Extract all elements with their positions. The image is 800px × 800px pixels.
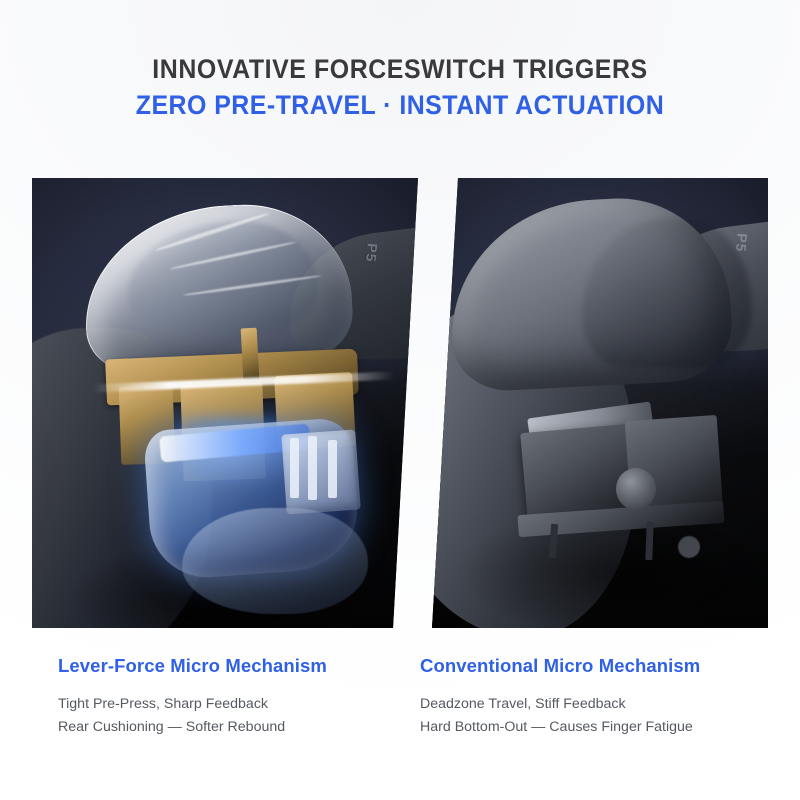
page-title: INNOVATIVE FORCESWITCH TRIGGERS [24, 55, 776, 85]
caption-line: Hard Bottom-Out — Causes Finger Fatigue [420, 716, 800, 739]
switch-pivot-knob [616, 468, 656, 510]
caption-line: Tight Pre-Press, Sharp Feedback [58, 693, 410, 716]
caption-line: Deadzone Travel, Stiff Feedback [420, 693, 800, 716]
brass-stem [241, 328, 260, 381]
page-subtitle: ZERO PRE-TRAVEL · INSTANT ACTUATION [24, 91, 776, 121]
switch-leg-icon [645, 522, 653, 560]
caption-line: Rear Cushioning — Softer Rebound [58, 716, 410, 739]
bumper-emboss-label-left: P5 [355, 242, 380, 280]
caption-row: Lever-Force Micro Mechanism Tight Pre-Pr… [0, 655, 800, 739]
switch-pin-icon [290, 438, 299, 498]
caption-column-right: Conventional Micro Mechanism Deadzone Tr… [410, 655, 800, 739]
headline-block: INNOVATIVE FORCESWITCH TRIGGERS ZERO PRE… [0, 55, 800, 120]
comparison-image-area: P5 [32, 178, 768, 628]
product-image-right: P5 [432, 178, 768, 628]
product-feature-page: INNOVATIVE FORCESWITCH TRIGGERS ZERO PRE… [0, 0, 800, 800]
caption-column-left: Lever-Force Micro Mechanism Tight Pre-Pr… [0, 655, 410, 739]
caption-title-right: Conventional Micro Mechanism [420, 655, 800, 677]
base-screw-dot-icon [678, 536, 700, 558]
caption-title-left: Lever-Force Micro Mechanism [58, 655, 410, 677]
switch-pin-icon [308, 436, 317, 500]
product-image-left: P5 [32, 178, 418, 628]
switch-pin-icon [328, 440, 337, 498]
trigger-barrel-translucent [182, 508, 368, 614]
